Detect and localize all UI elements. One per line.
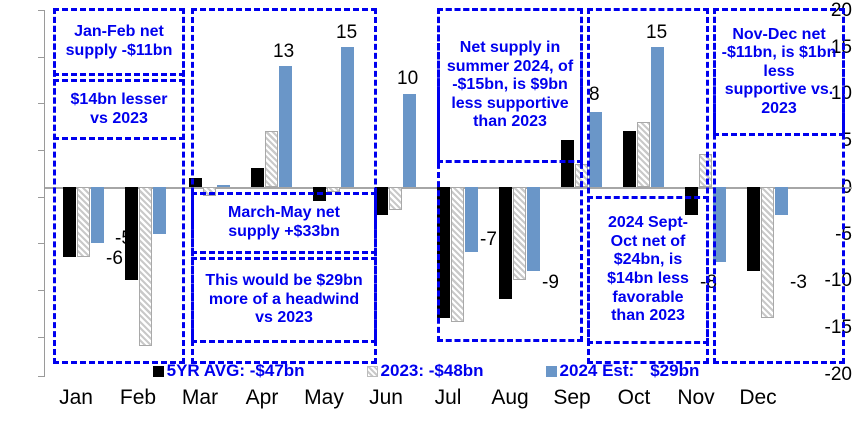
legend-item-2024: 2024 Est: $29bn <box>546 361 700 381</box>
bar-2023-jun <box>389 187 402 210</box>
bar-value-label-jun: 10 <box>397 68 418 90</box>
x-label-oct: Oct <box>603 386 665 410</box>
x-label-jan: Jan <box>45 386 107 410</box>
chart-legend: 5YR AVG: -$47bn 2023: -$48bn 2024 Est: $… <box>0 360 852 382</box>
x-label-nov: Nov <box>665 386 727 410</box>
x-label-sep: Sep <box>541 386 603 410</box>
x-label-dec: Dec <box>727 386 789 410</box>
legend-label-2024: 2024 Est: <box>560 361 635 381</box>
callout-nov-dec: Nov-Dec net -$11bn, is $1bn less support… <box>713 8 845 136</box>
legend-label-2023: 2023: -$48bn <box>381 361 484 381</box>
x-label-feb: Feb <box>107 386 169 410</box>
legend-swatch-5yr-icon <box>153 366 164 377</box>
legend-value-2024: $29bn <box>650 361 699 381</box>
legend-label-5yr: 5YR AVG: -$47bn <box>167 361 305 381</box>
callout-mar-may-net: March-May net supply +$33bn <box>191 192 377 254</box>
legend-item-5yr: 5YR AVG: -$47bn <box>153 361 305 381</box>
legend-swatch-2024-icon <box>546 366 557 377</box>
callout-mar-may-headwind: This would be $29bn more of a headwind v… <box>191 257 377 343</box>
callout-summer-supply: Net supply in summer 2024, of -$15bn, is… <box>437 8 583 163</box>
callout-jan-feb-lesser: $14bn lesser vs 2023 <box>53 79 185 140</box>
x-label-jul: Jul <box>417 386 479 410</box>
x-label-jun: Jun <box>355 386 417 410</box>
x-label-may: May <box>293 386 355 410</box>
legend-swatch-2023-icon <box>367 366 378 377</box>
bar-2024-jun <box>403 94 416 187</box>
legend-item-2023: 2023: -$48bn <box>367 361 484 381</box>
x-label-apr: Apr <box>231 386 293 410</box>
callout-jan-feb-net: Jan-Feb net supply -$11bn <box>53 8 185 76</box>
chart-root: 20 15 10 5 0 -5 -10 -15 -20 -6 -5 <box>0 0 852 424</box>
x-label-mar: Mar <box>169 386 231 410</box>
y-axis-line <box>44 10 45 376</box>
x-label-aug: Aug <box>479 386 541 410</box>
callout-sept-oct: 2024 Sept-Oct net of $24bn, is $14bn les… <box>587 196 709 344</box>
